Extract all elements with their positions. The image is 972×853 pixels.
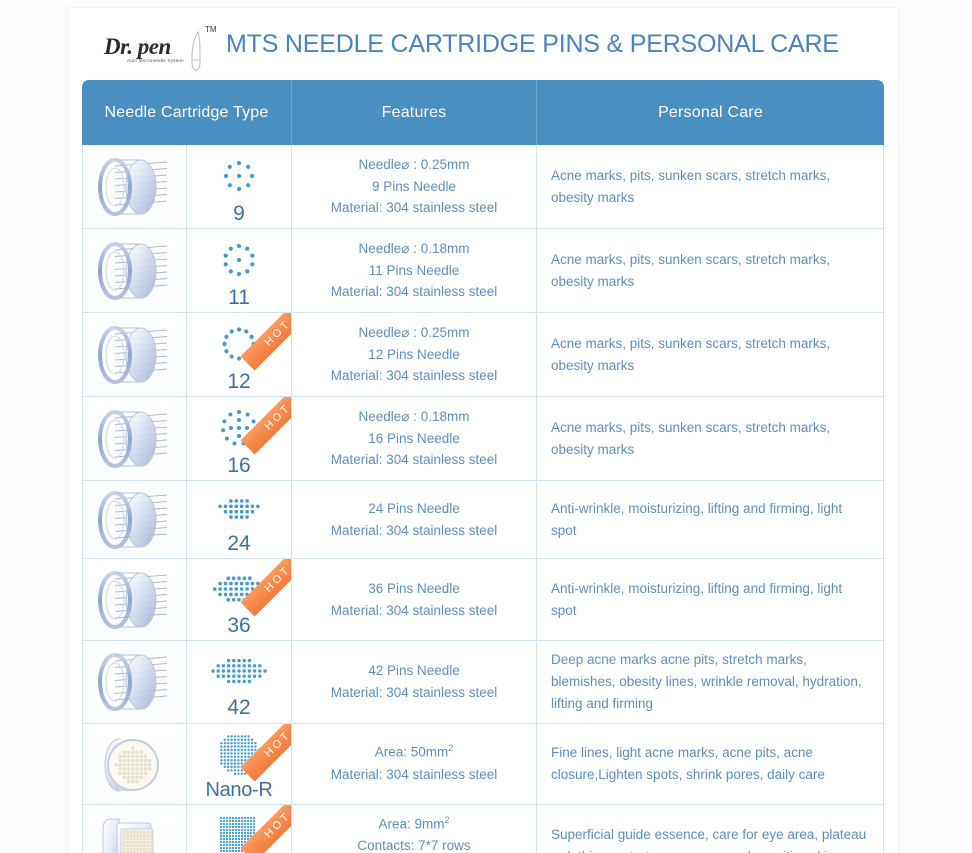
table-row: Nano-RHOTArea: 50mm2Material: 304 stainl…	[82, 724, 884, 805]
feature-line: Material: 304 stainless steel	[302, 449, 526, 471]
features-cell: Area: 50mm2Material: 304 stainless steel	[292, 724, 537, 805]
table-row: 36HOT36 Pins NeedleMaterial: 304 stainle…	[82, 559, 884, 641]
feature-line: Needle⌀ : 0.18mm	[302, 238, 526, 260]
round-needle-cartridge-icon	[83, 645, 186, 719]
personal-care-cell: Anti-wrinkle, moisturizing, lifting and …	[537, 559, 884, 641]
personal-care-cell: Fine lines, light acne marks, acne pits,…	[537, 724, 884, 805]
logo-tagline: Auto Microneedle System	[127, 58, 184, 63]
pin-count-label: 9	[233, 203, 245, 224]
cartridge-image-cell	[82, 397, 187, 481]
pin-pattern-cell: 9	[187, 145, 292, 229]
personal-care-cell: Acne marks, pits, sunken scars, stretch …	[537, 145, 884, 229]
dots-42-icon	[208, 647, 270, 695]
personal-care-cell: Acne marks, pits, sunken scars, stretch …	[537, 397, 884, 481]
cartridge-image-cell	[82, 805, 187, 853]
pin-pattern-cell: 42	[187, 641, 292, 724]
pin-count-label: 42	[227, 697, 250, 718]
feature-line: Material: 304 stainless steel	[302, 281, 526, 303]
features-cell: Needle⌀ : 0.18mm16 Pins NeedleMaterial: …	[292, 397, 537, 481]
table-row: 2424 Pins NeedleMaterial: 304 stainless …	[82, 481, 884, 559]
pin-pattern-cell: 11	[187, 229, 292, 313]
features-cell: 36 Pins NeedleMaterial: 304 stainless st…	[292, 559, 537, 641]
round-needle-cartridge-icon	[83, 150, 186, 224]
feature-line: Material: 304 stainless steel	[302, 764, 526, 786]
nano-round-cartridge-icon	[83, 727, 186, 801]
feature-line: 24 Pins Needle	[302, 498, 526, 520]
personal-care-cell: Acne marks, pits, sunken scars, stretch …	[537, 313, 884, 397]
table-row: Nano-SHOTArea: 9mm2Contacts: 7*7 rowsMat…	[82, 805, 884, 853]
feature-line: Material: 304 stainless steel	[302, 520, 526, 542]
pin-pattern-cell: Nano-SHOT	[187, 805, 292, 853]
cartridge-image-cell	[82, 641, 187, 724]
feature-line: Material: 304 stainless steel	[302, 365, 526, 387]
feature-line: 16 Pins Needle	[302, 428, 526, 450]
personal-care-cell: Anti-wrinkle, moisturizing, lifting and …	[537, 481, 884, 559]
page-root: Dr. pen Auto Microneedle System TM MTS N…	[0, 0, 972, 853]
feature-line: 42 Pins Needle	[302, 660, 526, 682]
column-header-needle-cartridge-type: Needle Cartridge Type	[82, 80, 292, 145]
table-header-row: Needle Cartridge Type Features Personal …	[82, 80, 884, 145]
dots-nano-square-icon	[208, 812, 270, 853]
features-cell: 24 Pins NeedleMaterial: 304 stainless st…	[292, 481, 537, 559]
round-needle-cartridge-icon	[83, 563, 186, 637]
pin-count-label: 12	[227, 371, 250, 392]
pin-count-label: Nano-R	[205, 780, 272, 800]
feature-line: Material: 304 stainless steel	[302, 682, 526, 704]
cartridge-image-cell	[82, 229, 187, 313]
dots-16-icon	[208, 403, 270, 453]
cartridge-image-cell	[82, 313, 187, 397]
column-header-personal-care: Personal Care	[537, 80, 884, 145]
dr-pen-logo: Dr. pen Auto Microneedle System TM	[104, 16, 222, 72]
pin-pattern-cell: 36HOT	[187, 559, 292, 641]
cartridge-image-cell	[82, 559, 187, 641]
table-row: 9Needle⌀ : 0.25mm9 Pins NeedleMaterial: …	[82, 145, 884, 229]
features-cell: 42 Pins NeedleMaterial: 304 stainless st…	[292, 641, 537, 724]
feature-line: Needle⌀ : 0.25mm	[302, 322, 526, 344]
title-bar: Dr. pen Auto Microneedle System TM MTS N…	[68, 8, 898, 80]
feature-line: 12 Pins Needle	[302, 344, 526, 366]
table-row: 12HOTNeedle⌀ : 0.25mm12 Pins NeedleMater…	[82, 313, 884, 397]
features-cell: Needle⌀ : 0.18mm11 Pins NeedleMaterial: …	[292, 229, 537, 313]
table-row: 11Needle⌀ : 0.18mm11 Pins NeedleMaterial…	[82, 229, 884, 313]
table-row: 4242 Pins NeedleMaterial: 304 stainless …	[82, 641, 884, 724]
feature-line: Needle⌀ : 0.18mm	[302, 406, 526, 428]
page-title: MTS NEEDLE CARTRIDGE PINS & PERSONAL CAR…	[226, 30, 839, 59]
nano-square-cartridge-icon	[83, 809, 186, 853]
round-needle-cartridge-icon	[83, 234, 186, 308]
table-body: 9Needle⌀ : 0.25mm9 Pins NeedleMaterial: …	[82, 145, 884, 853]
column-header-features: Features	[292, 80, 537, 145]
personal-care-cell: Acne marks, pits, sunken scars, stretch …	[537, 229, 884, 313]
features-cell: Needle⌀ : 0.25mm12 Pins NeedleMaterial: …	[292, 313, 537, 397]
pin-pattern-cell: 12HOT	[187, 313, 292, 397]
feature-line: Contacts: 7*7 rows	[302, 835, 526, 853]
pin-pattern-cell: 16HOT	[187, 397, 292, 481]
feature-line: Area: 50mm2	[302, 741, 526, 763]
cartridge-image-cell	[82, 481, 187, 559]
pin-count-label: 24	[227, 533, 250, 554]
personal-care-cell: Superficial guide essence, care for eye …	[537, 805, 884, 853]
product-spec-card: Dr. pen Auto Microneedle System TM MTS N…	[68, 8, 898, 853]
pen-icon	[184, 30, 210, 72]
dots-nano-round-icon	[208, 730, 270, 778]
dots-12-icon	[208, 319, 270, 369]
round-needle-cartridge-icon	[83, 318, 186, 392]
feature-line: Area: 9mm2	[302, 813, 526, 835]
pin-count-label: 36	[227, 615, 250, 636]
dots-9-icon	[208, 151, 270, 201]
feature-line: Needle⌀ : 0.25mm	[302, 154, 526, 176]
personal-care-cell: Deep acne marks acne pits, stretch marks…	[537, 641, 884, 724]
dots-24-icon	[208, 487, 270, 531]
pin-pattern-cell: Nano-RHOT	[187, 724, 292, 805]
cartridge-image-cell	[82, 724, 187, 805]
features-cell: Area: 9mm2Contacts: 7*7 rowsMaterial: Si…	[292, 805, 537, 853]
logo-wordmark: Dr. pen	[104, 34, 171, 60]
pin-count-label: 11	[228, 287, 250, 308]
dots-11-icon	[208, 235, 270, 285]
pin-pattern-cell: 24	[187, 481, 292, 559]
feature-line: 11 Pins Needle	[302, 260, 526, 282]
features-cell: Needle⌀ : 0.25mm9 Pins NeedleMaterial: 3…	[292, 145, 537, 229]
feature-line: Material: 304 stainless steel	[302, 600, 526, 622]
feature-line: Material: 304 stainless steel	[302, 197, 526, 219]
needle-cartridge-table: Needle Cartridge Type Features Personal …	[82, 80, 884, 853]
feature-line: 36 Pins Needle	[302, 578, 526, 600]
feature-line: 9 Pins Needle	[302, 176, 526, 198]
round-needle-cartridge-icon	[83, 402, 186, 476]
pin-count-label: 16	[227, 455, 250, 476]
cartridge-image-cell	[82, 145, 187, 229]
dots-36-icon	[208, 565, 270, 613]
round-needle-cartridge-icon	[83, 483, 186, 557]
table-row: 16HOTNeedle⌀ : 0.18mm16 Pins NeedleMater…	[82, 397, 884, 481]
